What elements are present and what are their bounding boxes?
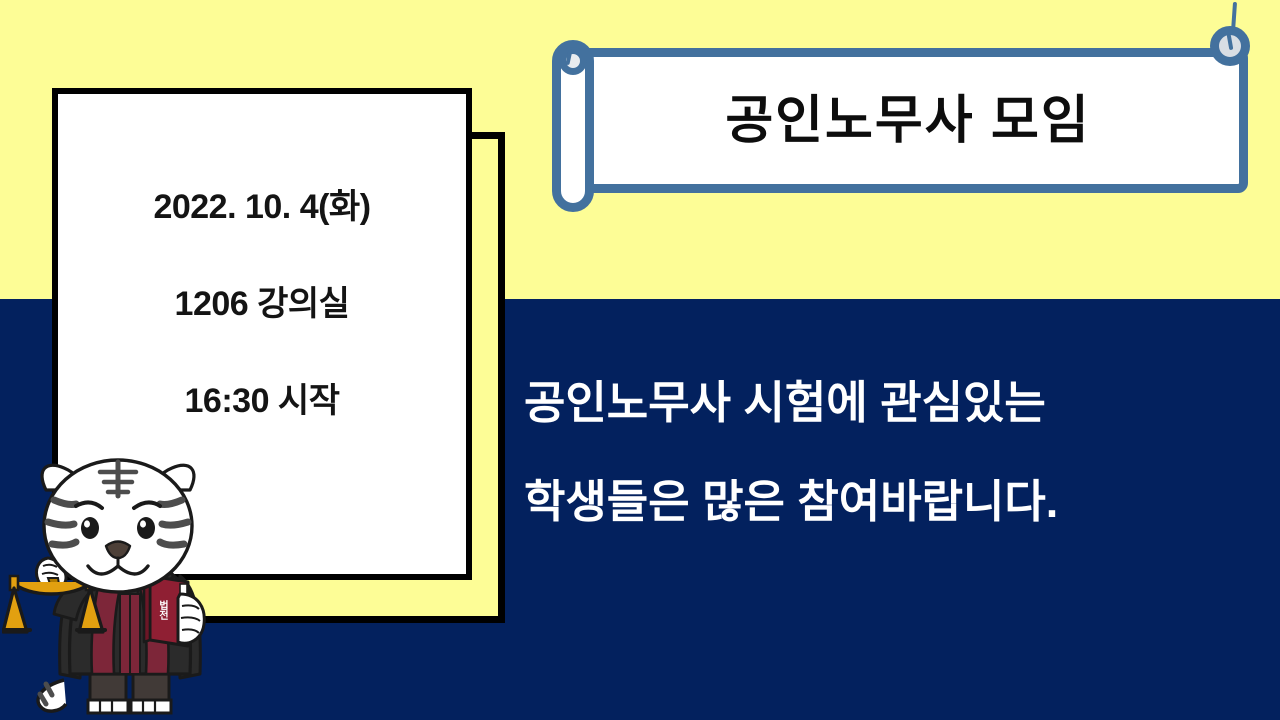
- tiger-lawyer-mascot: 법전: [2, 448, 234, 720]
- tiger-head-icon: [42, 460, 194, 592]
- tiger-right-paw-icon: [178, 594, 204, 643]
- message-line-1: 공인노무사 시험에 관심있는: [524, 380, 1280, 425]
- poster-canvas: 2022. 10. 4(화) 1206 강의실 16:30 시작 공인노무사 모…: [0, 0, 1280, 720]
- title-banner: 공인노무사 모임: [552, 0, 1252, 220]
- info-card-line-time: 16:30 시작: [185, 384, 340, 418]
- message-block: 공인노무사 시험에 관심있는 학생들은 많은 참여바랍니다.: [524, 380, 1280, 524]
- title-banner-box: 공인노무사 모임: [568, 48, 1248, 193]
- tiger-tail-icon: [38, 680, 66, 711]
- scroll-curl-left-icon: [559, 47, 587, 75]
- message-line-2: 학생들은 많은 참여바랍니다.: [524, 479, 1280, 524]
- law-book-label: 법전: [157, 599, 169, 620]
- info-card-line-room: 1206 강의실: [175, 287, 350, 321]
- page-title: 공인노무사 모임: [725, 95, 1090, 147]
- info-card-line-date: 2022. 10. 4(화): [153, 190, 370, 224]
